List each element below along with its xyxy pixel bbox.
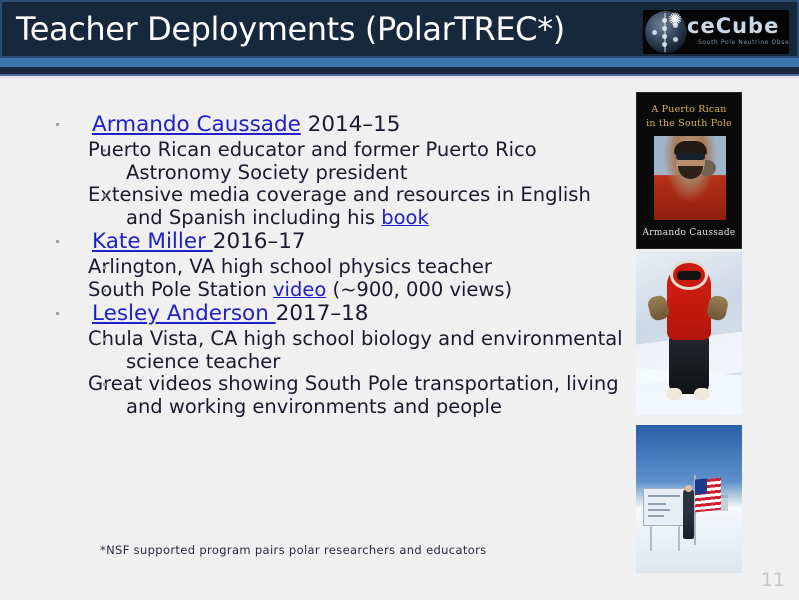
video-link[interactable]: video: [273, 278, 326, 301]
sensor-dot: [662, 42, 667, 47]
goggles-shape: [677, 271, 701, 280]
list-item-level2: Arlington, VA high school physics teache…: [46, 256, 626, 279]
bullet-icon: [56, 123, 59, 126]
us-flag-canton: [695, 478, 707, 494]
header-lower-band: [0, 67, 799, 74]
sensor-dot: [673, 37, 678, 42]
icecube-logo: ✺ ceCube South Pole Neutrino Observatory: [643, 10, 789, 54]
sub-text: Puerto Rican educator and former Puerto …: [88, 138, 537, 184]
person-silhouette: [683, 489, 694, 539]
sign-text-line: [648, 515, 664, 517]
sign-text-line: [648, 509, 670, 511]
sensor-dot: [652, 30, 657, 35]
logo-wordmark: ceCube: [687, 13, 779, 39]
sign-post: [650, 525, 652, 551]
book-link[interactable]: book: [381, 206, 429, 229]
bullet-icon: [103, 383, 106, 386]
sign-text-line: [648, 503, 666, 505]
person-head: [685, 485, 692, 492]
sub-text: Great videos showing South Pole transpor…: [88, 372, 619, 418]
book-author-name: Armando Caussade: [637, 228, 741, 238]
page-number: 11: [761, 569, 785, 591]
person-link[interactable]: Lesley Anderson: [92, 301, 276, 326]
bullet-icon: [103, 149, 106, 152]
deployment-years: 2014–15: [301, 112, 401, 137]
neutrino-burst-icon: ✺: [666, 11, 684, 29]
list-item-level2: Chula Vista, CA high school biology and …: [46, 328, 626, 373]
header-spacer: [0, 76, 799, 79]
content-body: Armando Caussade 2014–15 Puerto Rican ed…: [46, 112, 626, 418]
sub-text: Extensive media coverage and resources i…: [88, 183, 591, 229]
beard-shape: [678, 166, 703, 179]
page-title: Teacher Deployments (PolarTREC*): [16, 5, 565, 53]
list-item-level2: South Pole Station video (~900, 000 view…: [46, 279, 626, 302]
bullet-icon: [103, 338, 106, 341]
mitten-right-shape: [706, 294, 730, 321]
view-count: (~900, 000 views): [326, 278, 512, 301]
bullet-icon: [103, 266, 106, 269]
snow-portrait-image: [636, 252, 742, 415]
sub-text: Chula Vista, CA high school biology and …: [88, 327, 623, 373]
person-link[interactable]: Kate Miller: [92, 229, 213, 254]
boot-right-shape: [694, 388, 710, 400]
book-title-line1: A Puerto Rican: [637, 104, 741, 115]
list-item-level2: Great videos showing South Pole transpor…: [46, 373, 626, 418]
sub-text: South Pole Station: [88, 278, 273, 301]
snow-pants-shape: [669, 334, 709, 394]
bullet-icon: [103, 194, 106, 197]
bullet-icon: [103, 289, 106, 292]
bullet-icon: [56, 312, 59, 315]
south-pole-marker-image: [636, 425, 742, 573]
sign-post: [678, 525, 680, 551]
slide-header: Teacher Deployments (PolarTREC*) ✺ ceCub…: [0, 0, 799, 58]
book-title-line2: in the South Pole: [637, 118, 741, 129]
list-item-level2: Puerto Rican educator and former Puerto …: [46, 139, 626, 184]
deployment-years: 2017–18: [276, 301, 369, 326]
footnote: *NSF supported program pairs polar resea…: [100, 543, 487, 557]
sub-text: Arlington, VA high school physics teache…: [88, 255, 492, 278]
list-item-level1: Lesley Anderson 2017–18: [46, 301, 626, 327]
logo-subtitle: South Pole Neutrino Observatory: [698, 39, 789, 46]
pole-sign-shape: [643, 488, 687, 526]
header-accent-stripe: [0, 58, 799, 67]
deployment-years: 2016–17: [213, 229, 306, 254]
sensor-dot: [662, 34, 667, 39]
bullet-icon: [56, 240, 59, 243]
book-author-portrait: [654, 136, 726, 220]
sign-text-line: [648, 495, 680, 497]
list-item-level1: Armando Caussade 2014–15: [46, 112, 626, 138]
list-item-level1: Kate Miller 2016–17: [46, 229, 626, 255]
sunglasses-shape: [676, 153, 705, 160]
list-item-level2: Extensive media coverage and resources i…: [46, 184, 626, 229]
boot-left-shape: [666, 388, 682, 400]
book-cover-image: A Puerto Rican in the South Pole Armando…: [636, 92, 742, 249]
person-link[interactable]: Armando Caussade: [92, 112, 301, 137]
slide: Teacher Deployments (PolarTREC*) ✺ ceCub…: [0, 0, 799, 600]
